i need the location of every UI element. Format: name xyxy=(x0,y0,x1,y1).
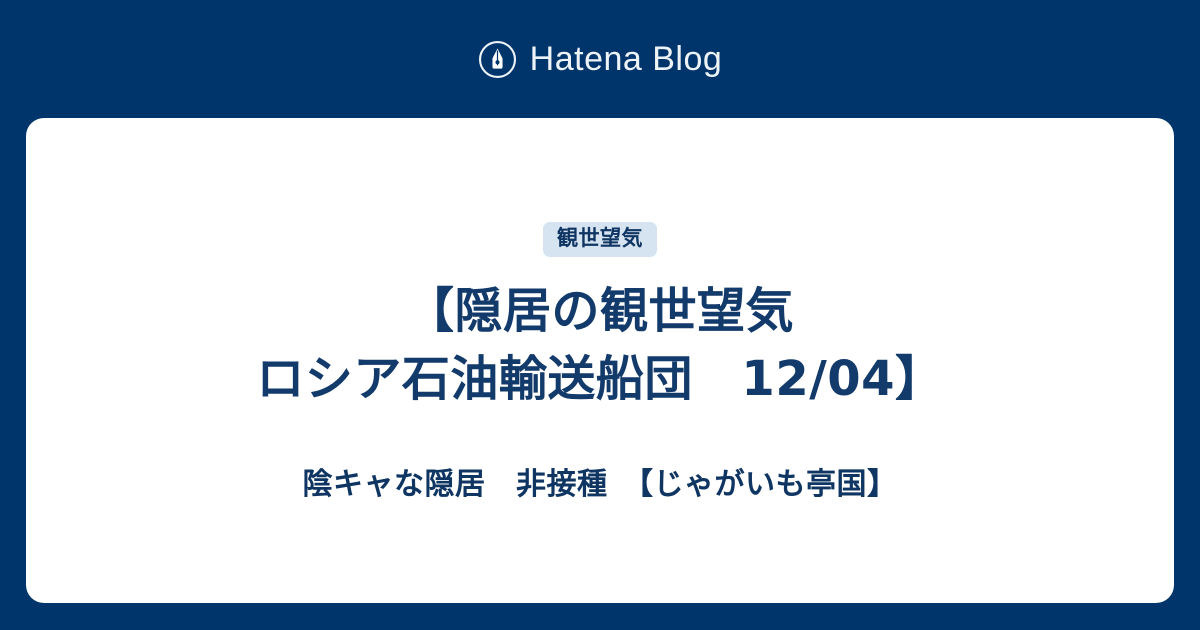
hatena-blog-brand-bar: Hatena Blog xyxy=(0,0,1200,118)
category-badge[interactable]: 観世望気 xyxy=(543,222,657,257)
entry-title: 【隠居の観世望気 ロシア石油輸送船団 12/04】 xyxy=(256,277,943,413)
entry-card: 観世望気 【隠居の観世望気 ロシア石油輸送船団 12/04】 陰キャな隠居 非接… xyxy=(26,118,1174,603)
blog-subtitle: 陰キャな隠居 非接種 【じゃがいも亭国】 xyxy=(303,465,898,504)
hatena-blog-wordmark: Hatena Blog xyxy=(530,42,723,76)
fountain-pen-nib-circle-icon xyxy=(478,40,517,79)
